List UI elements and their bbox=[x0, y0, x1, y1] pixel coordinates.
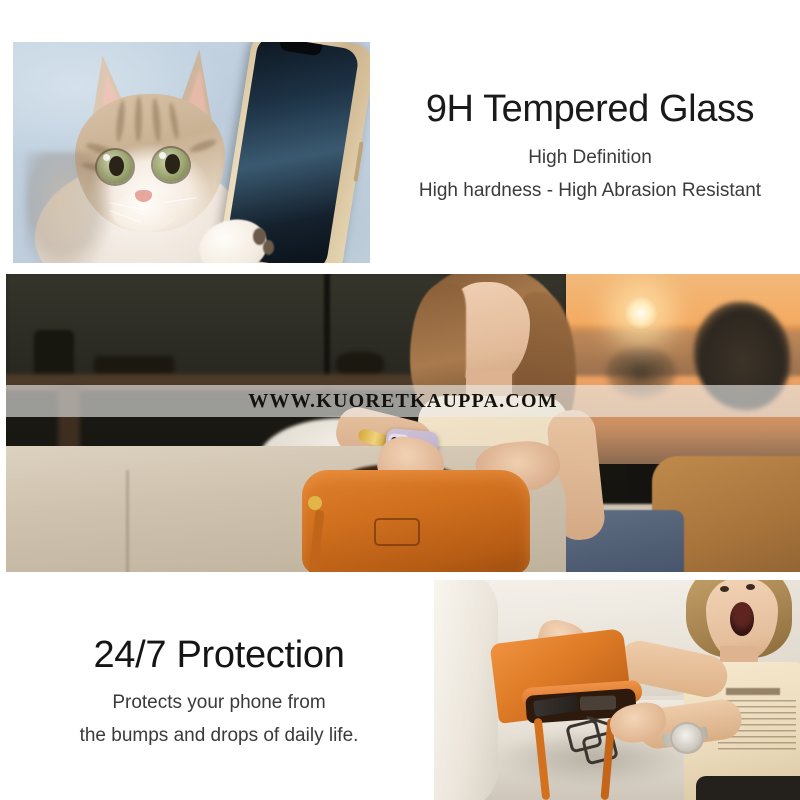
floor-lamp-pole bbox=[324, 274, 330, 390]
headline-subtitle-2: High hardness - High Abrasion Resistant bbox=[392, 179, 788, 204]
woman-open-mouth bbox=[730, 602, 754, 636]
handbag-logo-tag bbox=[374, 518, 420, 546]
cat-pupil-left bbox=[109, 156, 124, 176]
handbag-zip-pull bbox=[308, 496, 322, 510]
sofa-armrest bbox=[434, 580, 498, 800]
cat-pupil-right bbox=[165, 154, 180, 174]
bottom-subtitle-2: the bumps and drops of daily life. bbox=[24, 723, 414, 749]
watermark-text: WWW.KUORETKAUPPA.COM bbox=[248, 390, 558, 413]
spilled-wallet bbox=[580, 695, 616, 710]
headline-subtitle-1: High Definition bbox=[392, 146, 788, 171]
woman-eye-right bbox=[746, 584, 755, 590]
product-infographic-page: 9H Tempered Glass High Definition High h… bbox=[0, 0, 800, 800]
watermark-band: WWW.KUORETKAUPPA.COM bbox=[6, 385, 800, 417]
woman-eye-left bbox=[720, 586, 729, 592]
shelf-object bbox=[94, 356, 174, 376]
photo-cat-with-phone bbox=[13, 42, 370, 263]
sun-disc bbox=[624, 296, 658, 330]
shelf-vase bbox=[34, 330, 74, 378]
cat-eye-glint-right bbox=[159, 152, 166, 159]
photo-sofa-bag-scene: WWW.KUORETKAUPPA.COM bbox=[6, 274, 800, 572]
phone-screen-reflection bbox=[25, 152, 111, 263]
bottom-text-block: 24/7 Protection Protects your phone from… bbox=[24, 634, 414, 749]
headline-text-block: 9H Tempered Glass High Definition High h… bbox=[392, 88, 788, 204]
bottom-subtitle-1: Protects your phone from bbox=[24, 690, 414, 716]
woman-shorts bbox=[696, 776, 800, 800]
headline-title: 9H Tempered Glass bbox=[392, 88, 788, 132]
sofa-seam bbox=[126, 470, 129, 572]
wristwatch-face bbox=[670, 722, 704, 754]
bottom-title: 24/7 Protection bbox=[24, 634, 414, 678]
photo-shocked-woman-scene bbox=[434, 580, 800, 800]
tank-top-print-heading bbox=[726, 688, 780, 695]
cat-toe-bean bbox=[263, 240, 274, 255]
